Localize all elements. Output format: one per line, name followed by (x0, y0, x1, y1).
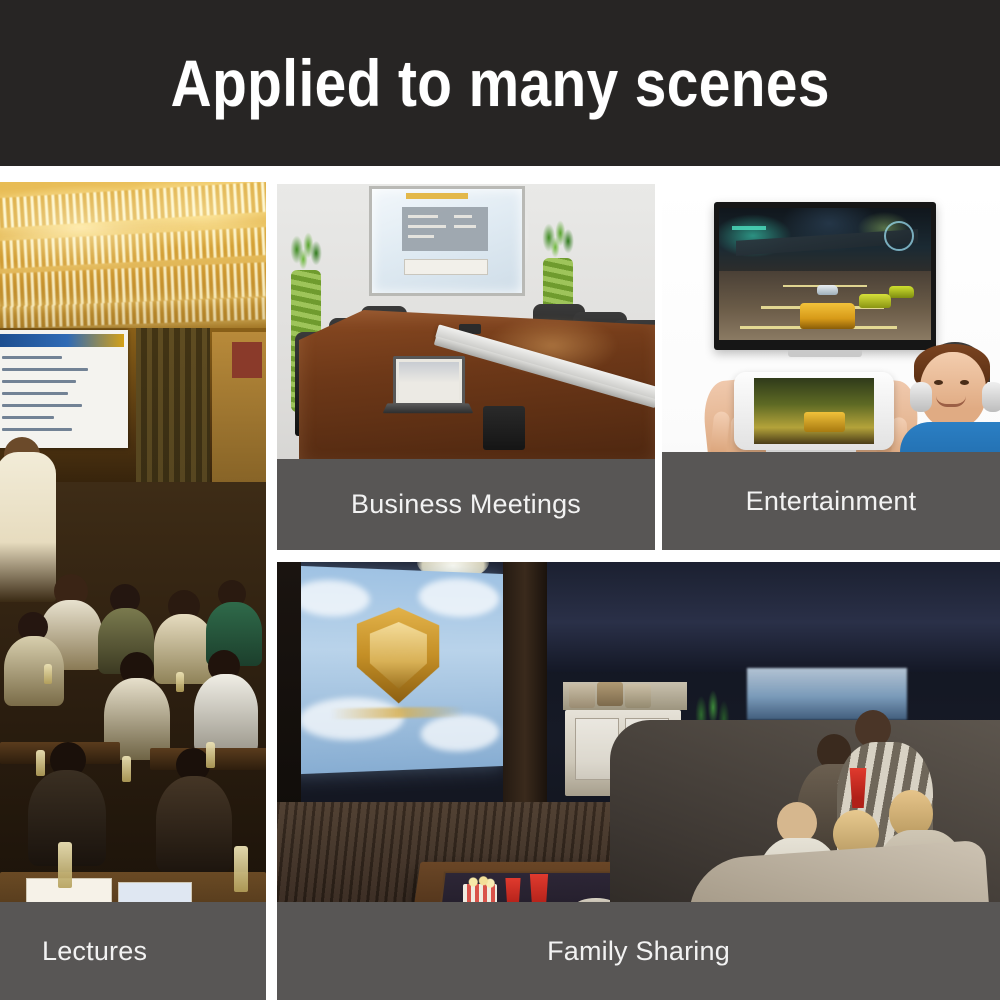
caption-bar-business: Business Meetings (277, 459, 655, 550)
projection-screen (287, 565, 503, 774)
presenter (0, 452, 56, 602)
wall-sign (232, 342, 262, 378)
wall-projection-screen (369, 186, 525, 296)
panel-lectures[interactable]: Lectures (0, 182, 266, 1000)
caption-bar-lectures: Lectures (0, 902, 266, 1000)
page-title: Applied to many scenes (170, 45, 829, 121)
panel-entertainment[interactable]: Entertainment (662, 184, 1000, 550)
game-hud-bar (732, 226, 766, 230)
window-view (747, 668, 907, 720)
phone-screen (754, 378, 874, 444)
room-pillar (503, 562, 547, 812)
slide-title-bar (0, 334, 124, 347)
television (714, 202, 936, 350)
panel-family-sharing[interactable]: Family Sharing (277, 562, 1000, 1000)
tv-screen (719, 208, 931, 340)
caption-label-family: Family Sharing (547, 936, 730, 967)
chandelier-row-icon (0, 182, 266, 229)
laptop-keyboard (383, 403, 474, 413)
laptop-screen (393, 356, 465, 406)
promotional-collage: Applied to many scenes (0, 0, 1000, 1000)
caption-label-entertainment: Entertainment (746, 486, 917, 517)
lecture-hall-photo (0, 182, 266, 1000)
caption-label-lectures: Lectures (42, 936, 147, 967)
caption-label-business: Business Meetings (351, 489, 581, 520)
headphone-cup-left (910, 382, 932, 412)
panel-business-meetings[interactable]: Business Meetings (277, 184, 655, 550)
header-banner: Applied to many scenes (0, 0, 1000, 166)
projector-device (483, 406, 525, 450)
ceiling (0, 182, 266, 332)
tv-stand (788, 350, 862, 357)
headphone-cup-right (982, 382, 1000, 412)
caption-bar-family: Family Sharing (277, 902, 1000, 1000)
projection-screen (0, 330, 128, 448)
caption-bar-entertainment: Entertainment (662, 452, 1000, 550)
smartphone (734, 372, 894, 450)
